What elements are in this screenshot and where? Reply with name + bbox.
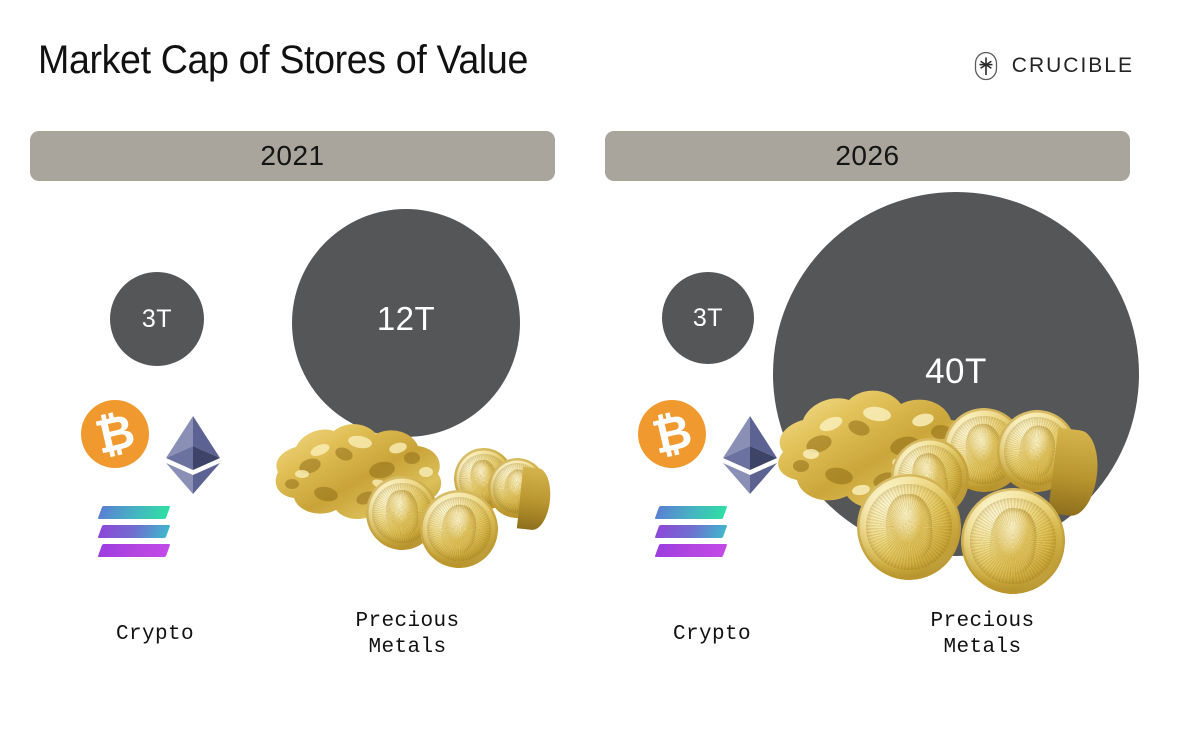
label-text: Crypto <box>673 623 751 646</box>
bubble-crypto-2021: 3T <box>110 272 204 366</box>
solana-bar-middle <box>657 525 725 538</box>
solana-bar-bottom <box>657 544 725 557</box>
panel-2021: 2021 3T 12T ₿ <box>30 0 555 736</box>
gold-coins-icon <box>765 382 1145 610</box>
label-precious-metals: Precious Metals <box>320 609 495 661</box>
bubble-crypto-2026: 3T <box>662 272 754 364</box>
crypto-logo-cluster: ₿ <box>48 392 228 582</box>
year-bar-2021: 2021 <box>30 131 555 181</box>
gold-coin-edge <box>517 467 553 532</box>
year-label: 2026 <box>835 140 899 172</box>
solana-icon <box>657 506 725 558</box>
solana-bar-top <box>657 506 725 519</box>
label-text-line2: Metals <box>320 635 495 661</box>
infographic-canvas: Market Cap of Stores of Value CRUCIBLE 2… <box>0 0 1180 736</box>
label-text-line2: Metals <box>895 635 1070 661</box>
year-bar-2026: 2026 <box>605 131 1130 181</box>
bitcoin-icon: ₿ <box>638 400 706 468</box>
gold-coin-edge <box>1048 428 1102 519</box>
gold-coins-icon <box>262 414 558 604</box>
label-precious-metals: Precious Metals <box>895 609 1070 661</box>
solana-bar-top <box>100 506 168 519</box>
bubble-value-label: 3T <box>693 304 723 333</box>
bitcoin-icon: ₿ <box>81 400 149 468</box>
bitcoin-symbol: ₿ <box>648 406 696 460</box>
bitcoin-symbol: ₿ <box>91 406 139 460</box>
label-text-line1: Precious <box>320 609 495 635</box>
solana-icon <box>100 506 168 558</box>
panel-2026: 2026 40T 3T ₿ <box>605 0 1130 736</box>
label-crypto: Crypto <box>617 622 807 648</box>
bubble-precious-metals-2021: 12T <box>292 209 520 437</box>
crypto-logo-cluster: ₿ <box>605 392 785 582</box>
label-text-line1: Precious <box>895 609 1070 635</box>
ethereum-icon <box>162 414 224 496</box>
year-label: 2021 <box>260 140 324 172</box>
bubble-value-label: 12T <box>377 300 435 338</box>
solana-bar-middle <box>100 525 168 538</box>
label-crypto: Crypto <box>60 622 250 648</box>
label-text: Crypto <box>116 623 194 646</box>
solana-bar-bottom <box>100 544 168 557</box>
bubble-value-label: 3T <box>142 305 172 334</box>
